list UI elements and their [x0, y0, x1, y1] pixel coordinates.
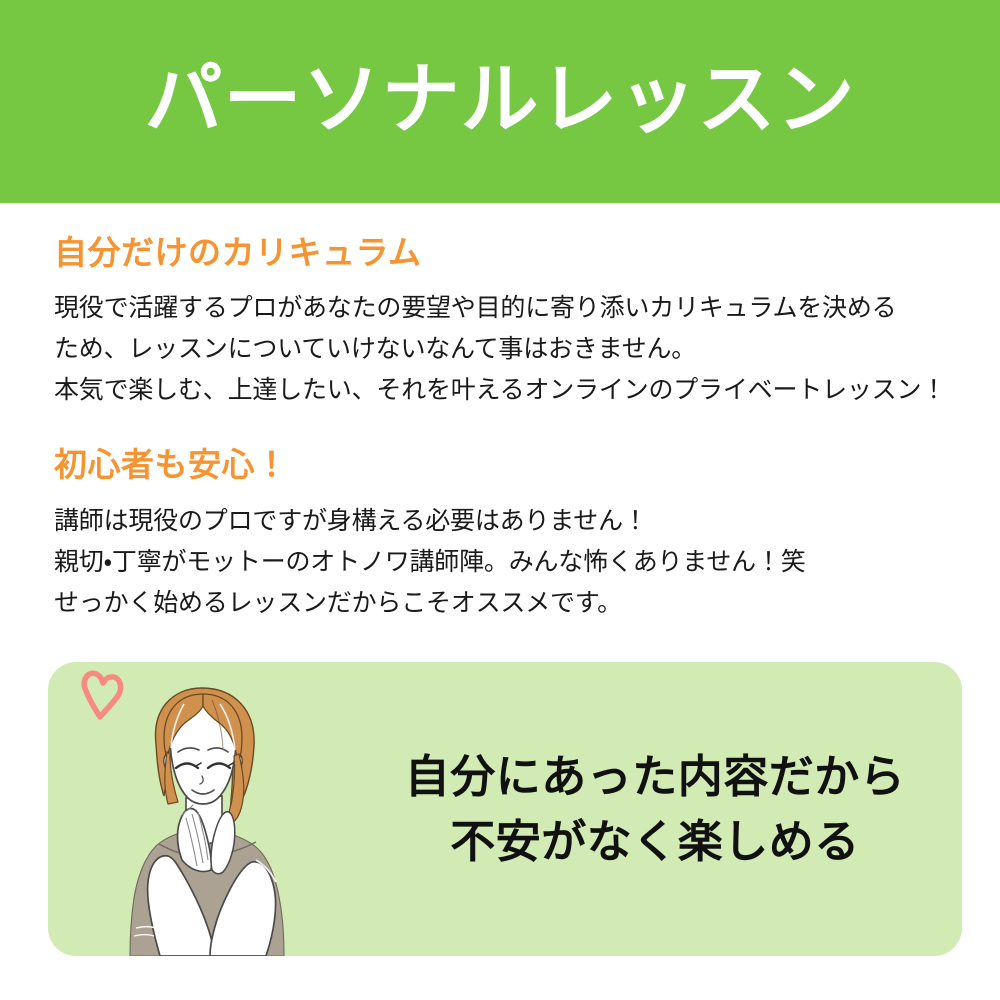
promo-line: 不安がなく楽しめる — [450, 812, 860, 871]
content-area: 自分だけのカリキュラム 現役で活躍するプロがあなたの要望や目的に寄り添いカリキュ… — [54, 232, 954, 623]
promo-message: 自分にあった内容だから 不安がなく楽しめる — [348, 662, 962, 956]
section-curriculum: 自分だけのカリキュラム 現役で活躍するプロがあなたの要望や目的に寄り添いカリキュ… — [54, 232, 954, 410]
heart-icon — [84, 673, 120, 717]
body-line: せっかく始めるレッスンだからこそオススメです。 — [54, 582, 954, 623]
section-body-beginner: 講師は現役のプロですが身構える必要はありません！ 親切・丁寧がモットーのオトノワ… — [54, 500, 954, 623]
section-beginner: 初心者も安心！ 講師は現役のプロですが身構える必要はありません！ 親切・丁寧がモ… — [54, 444, 954, 622]
section-body-curriculum: 現役で活躍するプロがあなたの要望や目的に寄り添いカリキュラムを決める ため、レッ… — [54, 287, 954, 410]
header-band: パーソナルレッスン — [0, 0, 1000, 203]
promo-line: 自分にあった内容だから — [405, 747, 906, 806]
body-line: 講師は現役のプロですが身構える必要はありません！ — [54, 500, 954, 541]
promo-card: 自分にあった内容だから 不安がなく楽しめる — [48, 662, 962, 956]
page-title: パーソナルレッスン — [144, 61, 855, 139]
section-heading-beginner: 初心者も安心！ — [54, 444, 954, 485]
promo-page: パーソナルレッスン 自分だけのカリキュラム 現役で活躍するプロがあなたの要望や目… — [0, 0, 1000, 1000]
section-heading-curriculum: 自分だけのカリキュラム — [54, 232, 954, 273]
body-line: 本気で楽しむ、上達したい、それを叶えるオンラインのプライベートレッスン！ — [54, 369, 954, 410]
illustration-smiling-woman — [60, 662, 340, 956]
body-line: ため、レッスンについていけないなんて事はおきません。 — [54, 328, 954, 369]
body-line: 親切・丁寧がモットーのオトノワ講師陣。みんな怖くありません！笑 — [54, 541, 954, 582]
body-line: 現役で活躍するプロがあなたの要望や目的に寄り添いカリキュラムを決める — [54, 287, 954, 328]
